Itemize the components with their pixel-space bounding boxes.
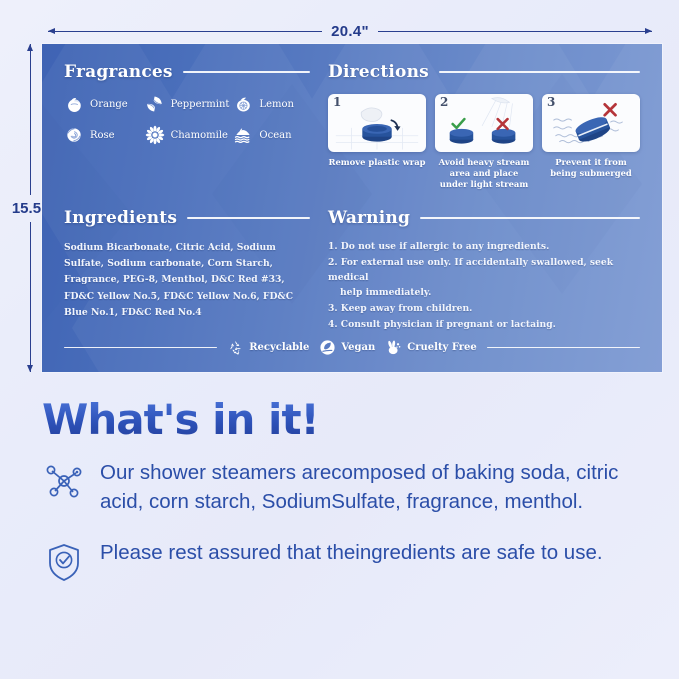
fragrances-section: Fragrances Orange [64, 62, 310, 190]
fragrance-item-peppermint: Peppermint [145, 94, 230, 114]
direction-step-3: 3 [542, 94, 640, 190]
recycle-icon [227, 339, 244, 356]
directions-steps: 1 [328, 94, 640, 190]
fragrances-header: Fragrances [64, 62, 310, 82]
ingredients-rule [187, 217, 310, 219]
step-number: 3 [547, 95, 555, 109]
direction-caption: Prevent it from being submerged [542, 157, 640, 179]
warning-header: Warning [328, 208, 640, 228]
step-number: 2 [440, 95, 448, 109]
fragrances-grid: Orange Peppermint [64, 94, 310, 145]
directions-rule [439, 71, 640, 73]
direction-step-2: 2 [435, 94, 533, 190]
benefit-item-safety: Please rest assured that theingredients … [42, 538, 655, 584]
fragrance-label: Orange [90, 99, 128, 110]
fragrance-label: Chamomile [171, 130, 228, 141]
ingredients-title: Ingredients [64, 208, 177, 228]
warning-item: 3. Keep away from children. [328, 302, 640, 317]
directions-title: Directions [328, 62, 429, 82]
ingredients-text: Sodium Bicarbonate, Citric Acid, Sodium … [64, 240, 310, 320]
badge-label: Cruelty Free [407, 342, 477, 353]
fragrances-rule [183, 71, 310, 73]
shield-check-icon [42, 540, 86, 584]
product-label-panel: Fragrances Orange [42, 44, 662, 372]
benefit-text: Our shower steamers arecomposed of bakin… [100, 458, 655, 516]
stream-placement-illustration [435, 94, 533, 152]
height-arrow-top [30, 44, 31, 195]
badge-rule-right [487, 347, 640, 349]
warning-text: 4. Consult physician if pregnant or lact… [328, 319, 556, 330]
direction-caption: Remove plastic wrap [328, 157, 426, 168]
directions-section: Directions 1 [328, 62, 640, 190]
width-arrow-left [48, 31, 322, 32]
lemon-icon [233, 94, 253, 114]
badge-label: Recyclable [249, 342, 309, 353]
ocean-icon [233, 125, 253, 145]
certification-badges: Recyclable Vegan [64, 339, 640, 356]
fragrance-item-lemon: Lemon [233, 94, 310, 114]
fragrance-item-rose: Rose [64, 125, 141, 145]
warning-list: 1. Do not use if allergic to any ingredi… [328, 240, 640, 332]
warning-text: 2. For external use only. If accidentall… [328, 257, 613, 283]
peppermint-icon [145, 94, 165, 114]
ingredients-section: Ingredients Sodium Bicarbonate, Citric A… [64, 208, 310, 333]
page-title: What's in it! [42, 398, 655, 442]
height-arrow-bottom [30, 222, 31, 373]
width-dimension: 20.4" [48, 22, 652, 40]
direction-caption: Avoid heavy stream area and place under … [435, 157, 533, 190]
width-dimension-label: 20.4" [322, 23, 378, 40]
warning-item: 4. Consult physician if pregnant or lact… [328, 318, 640, 333]
badge-rule-left [64, 347, 217, 349]
direction-card-1: 1 [328, 94, 426, 152]
rose-icon [64, 125, 84, 145]
warning-rule [420, 217, 640, 219]
warning-text: 1. Do not use if allergic to any ingredi… [328, 241, 549, 252]
warning-item: 1. Do not use if allergic to any ingredi… [328, 240, 640, 255]
ingredients-header: Ingredients [64, 208, 310, 228]
badge-label: Vegan [341, 342, 375, 353]
warning-text: 3. Keep away from children. [328, 303, 472, 314]
fragrance-label: Ocean [259, 130, 291, 141]
badge-recyclable: Recyclable [227, 339, 309, 356]
fragrance-label: Peppermint [171, 99, 230, 110]
warning-item: 2. For external use only. If accidentall… [328, 256, 640, 301]
orange-icon [64, 94, 84, 114]
submerged-warning-illustration [542, 94, 640, 152]
step-number: 1 [333, 95, 341, 109]
fragrance-item-orange: Orange [64, 94, 141, 114]
warning-title: Warning [328, 208, 410, 228]
leaf-icon [319, 339, 336, 356]
fragrances-title: Fragrances [64, 62, 173, 82]
infographic-root: 20.4" 15.5" [0, 0, 679, 679]
whats-in-it-section: What's in it! Our shower steamers arecom… [0, 380, 679, 679]
width-arrow-right [378, 31, 652, 32]
chamomile-icon [145, 125, 165, 145]
direction-card-2: 2 [435, 94, 533, 152]
fragrance-item-ocean: Ocean [233, 125, 310, 145]
molecule-icon [42, 460, 86, 504]
directions-header: Directions [328, 62, 640, 82]
rabbit-icon [385, 339, 402, 356]
benefit-text: Please rest assured that theingredients … [100, 538, 603, 567]
warning-text-continued: help immediately. [328, 286, 640, 301]
fragrance-label: Lemon [259, 99, 294, 110]
remove-wrap-illustration [328, 94, 426, 152]
benefit-item-ingredients: Our shower steamers arecomposed of bakin… [42, 458, 655, 516]
badge-cruelty-free: Cruelty Free [385, 339, 477, 356]
direction-card-3: 3 [542, 94, 640, 152]
badge-vegan: Vegan [319, 339, 375, 356]
direction-step-1: 1 [328, 94, 426, 190]
fragrance-label: Rose [90, 130, 115, 141]
warning-section: Warning 1. Do not use if allergic to any… [328, 208, 640, 333]
fragrance-item-chamomile: Chamomile [145, 125, 230, 145]
